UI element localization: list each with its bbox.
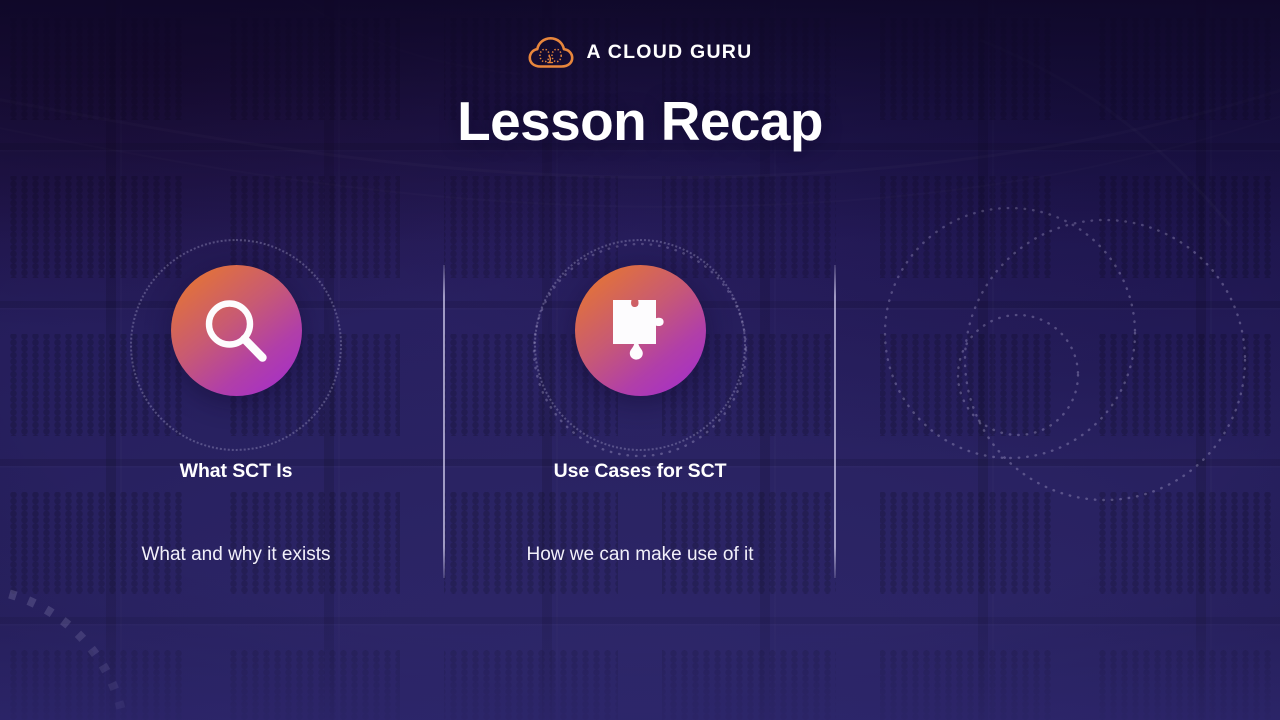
cloud-guru-logo-icon — [528, 36, 574, 69]
column-divider-left — [443, 265, 445, 578]
card-description: What and why it exists — [141, 544, 330, 566]
card-description: How we can make use of it — [526, 544, 753, 566]
column-divider-right — [834, 265, 836, 578]
puzzle-piece-icon — [604, 293, 676, 369]
brand-header: A CLOUD GURU — [0, 36, 1280, 69]
icon-bubble — [171, 265, 302, 396]
recap-card-what-sct-is: What SCT Is What and why it exists — [34, 265, 438, 566]
brand-name: A CLOUD GURU — [587, 41, 753, 64]
page-title: Lesson Recap — [0, 89, 1280, 153]
recap-cards: What SCT Is What and why it exists Use C… — [0, 265, 1280, 566]
magnifying-glass-icon — [197, 292, 275, 370]
card-title: What SCT Is — [180, 460, 293, 483]
card-title: Use Cases for SCT — [554, 460, 727, 483]
lesson-recap-slide: A CLOUD GURU Lesson Recap What SCT Is Wh… — [0, 0, 1280, 720]
recap-card-use-cases-for-sct: Use Cases for SCT How we can make use of… — [438, 265, 842, 566]
icon-bubble — [575, 265, 706, 396]
